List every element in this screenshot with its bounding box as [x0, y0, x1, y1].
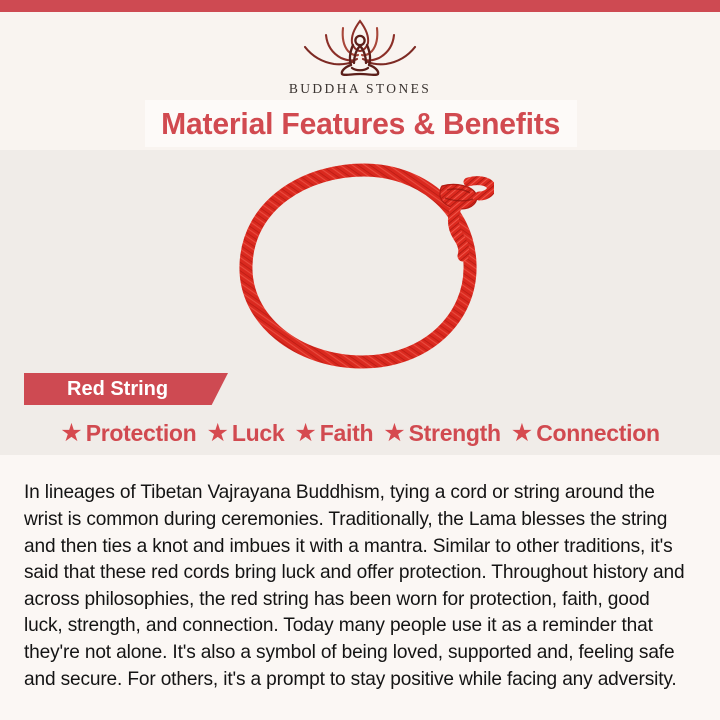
- benefit-label: Luck: [232, 420, 284, 447]
- page-title: Material Features & Benefits: [162, 106, 561, 142]
- star-icon: ★: [60, 421, 82, 446]
- star-icon: ★: [383, 421, 405, 446]
- benefit-label: Connection: [536, 420, 660, 447]
- title-banner: Material Features & Benefits: [145, 100, 577, 147]
- benefit-item: ★ Faith: [294, 420, 373, 447]
- benefit-label: Faith: [320, 420, 373, 447]
- benefit-item: ★ Connection: [511, 420, 660, 447]
- benefit-item: ★ Protection: [60, 420, 196, 447]
- star-icon: ★: [511, 421, 533, 446]
- benefit-label: Strength: [409, 420, 501, 447]
- brand-name: BUDDHA STONES: [289, 81, 431, 97]
- benefit-label: Protection: [86, 420, 197, 447]
- top-accent-band: [0, 0, 720, 12]
- benefit-item: ★ Strength: [383, 420, 501, 447]
- benefits-row: ★ Protection ★ Luck ★ Faith ★ Strength ★…: [24, 420, 696, 447]
- product-label-banner: Red String: [24, 373, 228, 405]
- star-icon: ★: [294, 421, 316, 446]
- description-paragraph: In lineages of Tibetan Vajrayana Buddhis…: [24, 479, 686, 692]
- product-label: Red String: [24, 378, 168, 401]
- infographic-page: BUDDHA STONES Material Features & Benefi…: [0, 0, 720, 720]
- brand-logo: BUDDHA STONES: [0, 16, 720, 97]
- star-icon: ★: [206, 421, 228, 446]
- lotus-meditation-icon: [296, 16, 424, 78]
- benefit-item: ★ Luck: [206, 420, 284, 447]
- red-string-bracelet-image: [232, 162, 494, 372]
